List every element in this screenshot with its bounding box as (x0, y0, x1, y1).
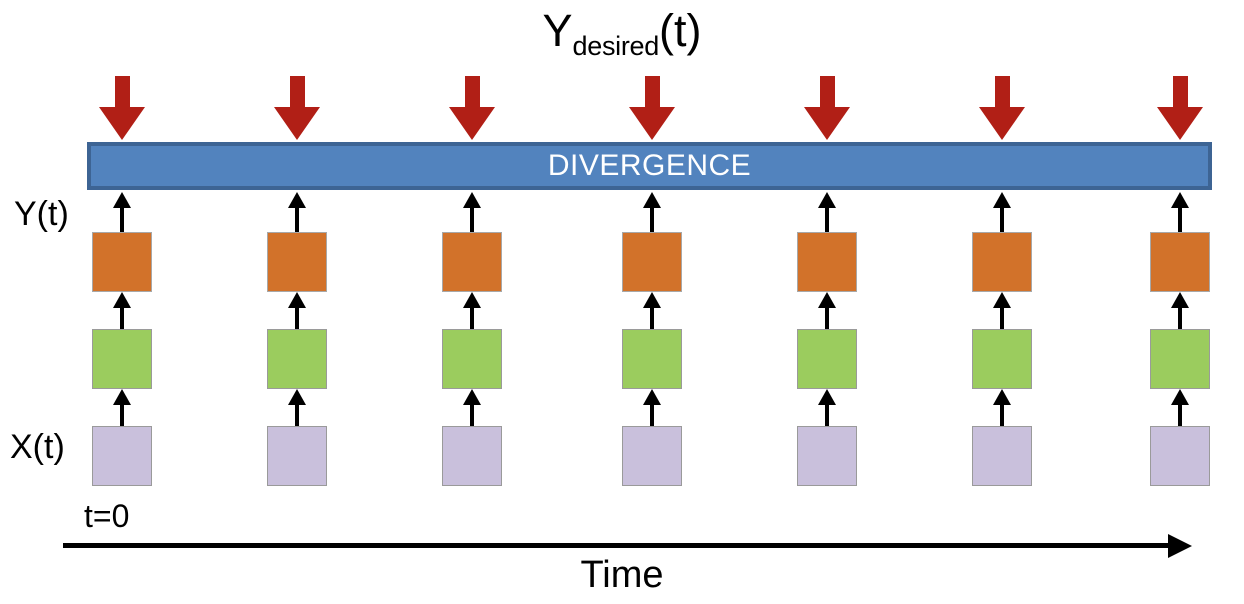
node-box-hidden[interactable] (92, 329, 152, 389)
connector-arrow-icon (1000, 192, 1004, 232)
connector-arrow-icon (120, 292, 124, 329)
connector-arrow-icon (825, 292, 829, 329)
node-box-hidden[interactable] (622, 329, 682, 389)
page-title: Ydesired(t) (0, 8, 1244, 53)
connector-arrow-icon (470, 192, 474, 232)
node-box-output[interactable] (797, 232, 857, 292)
node-box-output[interactable] (622, 232, 682, 292)
connector-arrow-icon (650, 292, 654, 329)
connector-arrow-icon (825, 389, 829, 426)
target-arrow-icon (979, 76, 1025, 138)
node-box-input[interactable] (797, 426, 857, 486)
node-box-output[interactable] (92, 232, 152, 292)
connector-arrow-icon (470, 292, 474, 329)
node-box-hidden[interactable] (972, 329, 1032, 389)
connector-arrow-icon (1178, 292, 1182, 329)
target-arrow-icon (274, 76, 320, 138)
divergence-label: DIVERGENCE (548, 149, 751, 183)
connector-arrow-icon (295, 192, 299, 232)
node-box-input[interactable] (622, 426, 682, 486)
connector-arrow-icon (1178, 192, 1182, 232)
connector-arrow-icon (650, 389, 654, 426)
node-box-input[interactable] (972, 426, 1032, 486)
connector-arrow-icon (1000, 292, 1004, 329)
node-box-output[interactable] (972, 232, 1032, 292)
node-box-input[interactable] (267, 426, 327, 486)
node-box-input[interactable] (1150, 426, 1210, 486)
node-box-output[interactable] (267, 232, 327, 292)
connector-arrow-icon (120, 192, 124, 232)
target-arrow-icon (1157, 76, 1203, 138)
connector-arrow-icon (1178, 389, 1182, 426)
time-axis-line (63, 543, 1171, 548)
title-subscript: desired (573, 31, 659, 61)
rnn-divergence-diagram: Ydesired(t) DIVERGENCE Y(t) X(t) t=0 Tim… (0, 0, 1244, 604)
input-row-label: X(t) (10, 430, 65, 464)
divergence-bar[interactable]: DIVERGENCE (87, 142, 1212, 190)
connector-arrow-icon (295, 292, 299, 329)
node-box-hidden[interactable] (1150, 329, 1210, 389)
connector-arrow-icon (825, 192, 829, 232)
node-box-output[interactable] (442, 232, 502, 292)
output-row-label: Y(t) (14, 197, 69, 231)
node-box-hidden[interactable] (797, 329, 857, 389)
node-box-hidden[interactable] (442, 329, 502, 389)
connector-arrow-icon (120, 389, 124, 426)
connector-arrow-icon (650, 192, 654, 232)
node-box-input[interactable] (442, 426, 502, 486)
node-box-hidden[interactable] (267, 329, 327, 389)
connector-arrow-icon (470, 389, 474, 426)
target-arrow-icon (804, 76, 850, 138)
time-origin-label: t=0 (84, 500, 129, 532)
connector-arrow-icon (1000, 389, 1004, 426)
target-arrow-icon (99, 76, 145, 138)
target-arrow-icon (449, 76, 495, 138)
target-arrow-icon (629, 76, 675, 138)
time-axis-arrow-icon (1168, 534, 1192, 558)
node-box-output[interactable] (1150, 232, 1210, 292)
node-box-input[interactable] (92, 426, 152, 486)
title-main: Y (543, 5, 573, 56)
title-tail: (t) (659, 5, 701, 56)
connector-arrow-icon (295, 389, 299, 426)
time-axis-label: Time (0, 556, 1244, 594)
